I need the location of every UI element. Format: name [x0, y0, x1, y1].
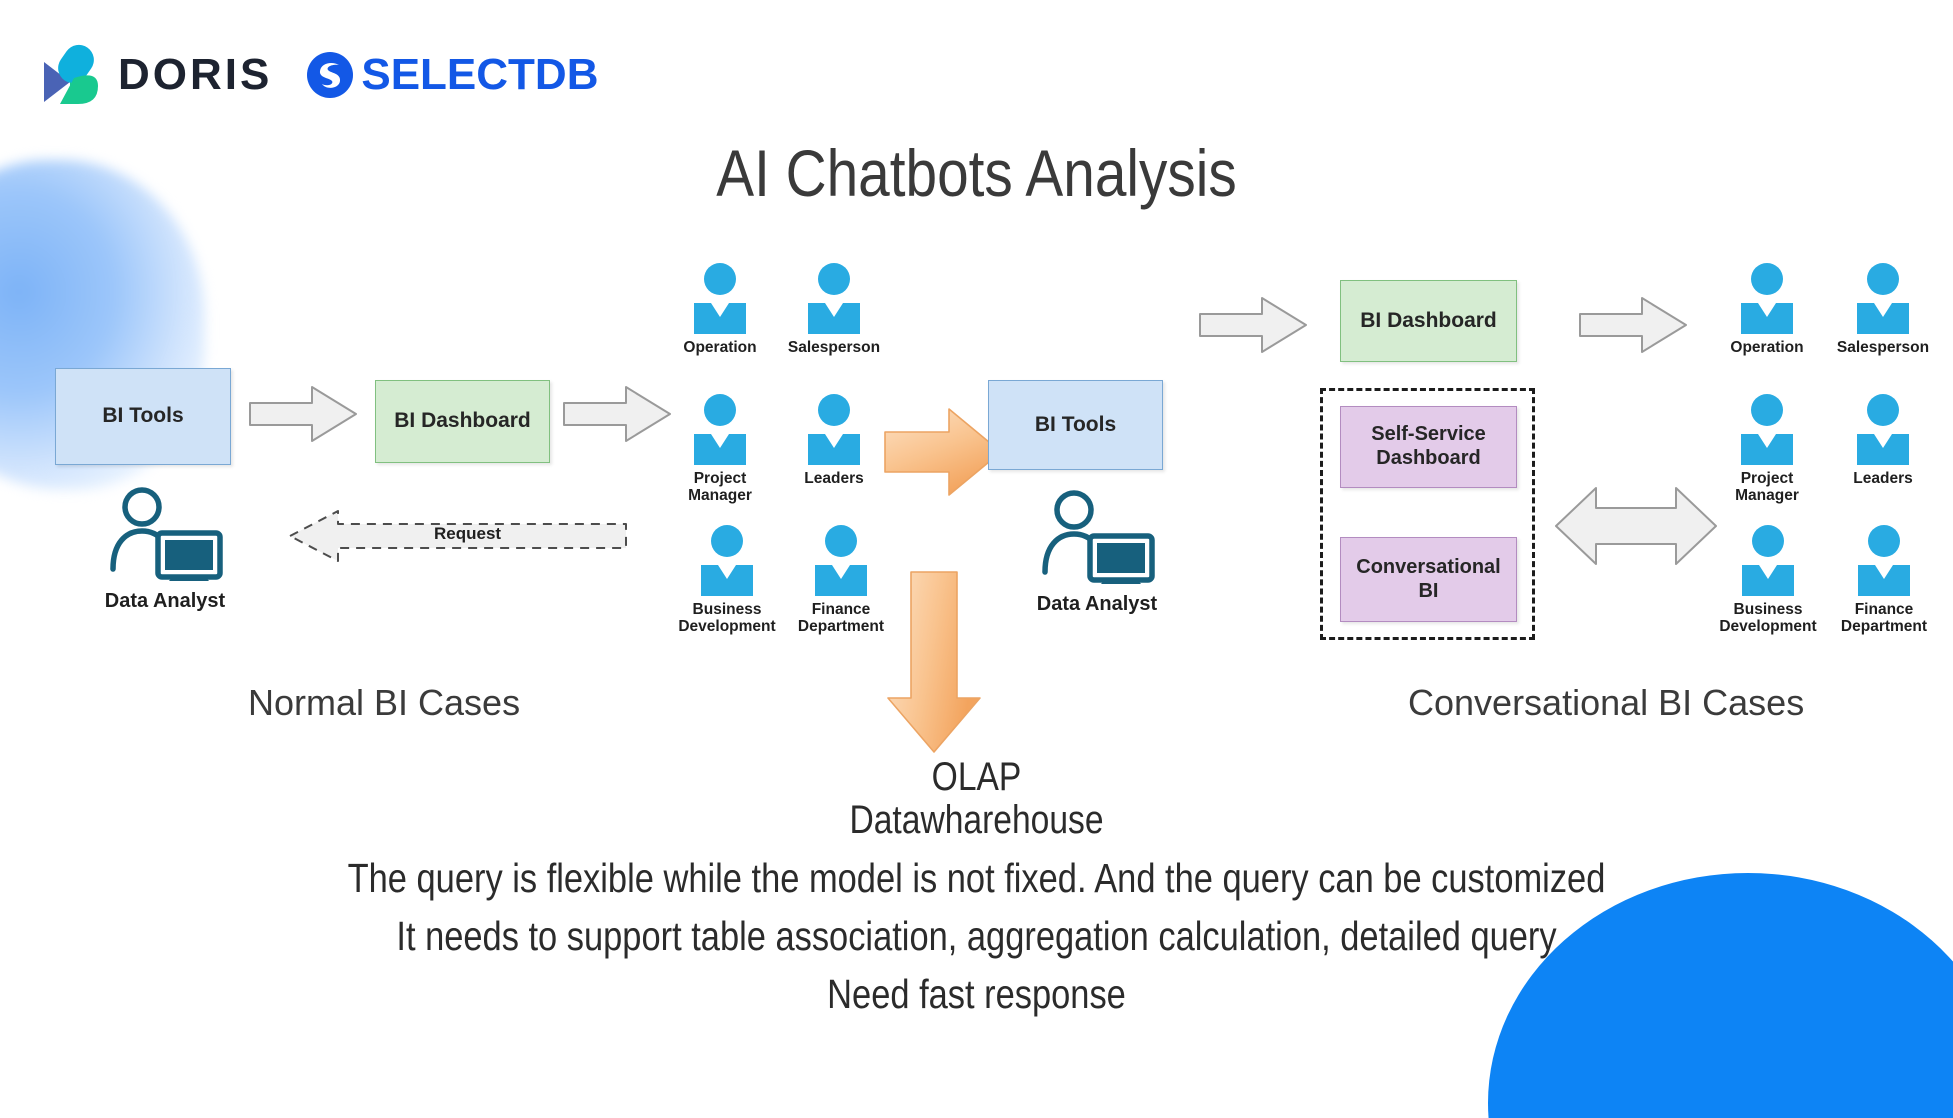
- data-analyst-middle-label: Data Analyst: [1012, 593, 1182, 616]
- olap-line-3: The query is flexible while the model is…: [156, 855, 1797, 902]
- conversational-bi-cases-caption: Conversational BI Cases: [1408, 682, 1804, 724]
- bi-dashboard-box-left[interactable]: BI Dashboard: [375, 380, 550, 463]
- person-business-development-right: Business Development: [1712, 524, 1824, 636]
- person-icon: [1736, 262, 1798, 334]
- person-icon: [1853, 524, 1915, 596]
- person-label: Operation: [672, 339, 768, 356]
- person-label: Salesperson: [1833, 339, 1933, 356]
- person-leaders-right: Leaders: [1833, 393, 1933, 487]
- person-operation-right: Operation: [1717, 262, 1817, 356]
- arrow-double-horizontal-icon: [1552, 480, 1720, 572]
- olap-line-2: Datawharehouse: [156, 798, 1797, 843]
- olap-line-1: OLAP: [156, 755, 1797, 800]
- arrow-right-icon-2: [562, 383, 672, 445]
- person-icon: [1736, 393, 1798, 465]
- person-label: Salesperson: [786, 339, 882, 356]
- page-title: AI Chatbots Analysis: [137, 135, 1817, 211]
- doris-logo: DORIS: [36, 42, 272, 108]
- person-icon: [803, 262, 865, 334]
- person-label: Business Development: [672, 601, 782, 636]
- person-finance-department-right: Finance Department: [1828, 524, 1940, 636]
- person-icon: [689, 393, 751, 465]
- bi-dashboard-box-right[interactable]: BI Dashboard: [1340, 280, 1517, 362]
- person-icon: [689, 262, 751, 334]
- selectdb-wordmark: SELECTDB: [361, 53, 598, 97]
- person-label: Project Manager: [672, 470, 768, 505]
- person-project-manager-left: Project Manager: [672, 393, 768, 505]
- person-icon: [810, 524, 872, 596]
- self-service-dashboard-box[interactable]: Self-Service Dashboard: [1340, 406, 1517, 488]
- arrow-down-orange-icon: [885, 570, 983, 755]
- person-business-development-left: Business Development: [672, 524, 782, 636]
- doris-wordmark: DORIS: [118, 53, 272, 97]
- person-icon: [1852, 262, 1914, 334]
- person-label: Finance Department: [786, 601, 896, 636]
- person-finance-department-left: Finance Department: [786, 524, 896, 636]
- olap-line-5: Need fast response: [156, 971, 1797, 1018]
- data-analyst-left-label: Data Analyst: [80, 590, 250, 613]
- conversational-bi-box[interactable]: Conversational BI: [1340, 537, 1517, 622]
- person-label: Leaders: [1833, 470, 1933, 487]
- doris-logo-icon: [36, 42, 104, 108]
- person-label: Leaders: [786, 470, 882, 487]
- arrow-right-icon-1: [248, 383, 358, 445]
- bi-tools-box-middle[interactable]: BI Tools: [988, 380, 1163, 470]
- person-icon: [803, 393, 865, 465]
- normal-bi-cases-caption: Normal BI Cases: [248, 682, 520, 724]
- data-analyst-left: Data Analyst: [80, 485, 250, 613]
- person-icon: [1737, 524, 1799, 596]
- arrow-right-orange-icon: [883, 406, 1003, 498]
- person-project-manager-right: Project Manager: [1717, 393, 1817, 505]
- person-operation-left: Operation: [672, 262, 768, 356]
- data-analyst-icon: [100, 485, 230, 581]
- olap-line-4: It needs to support table association, a…: [156, 913, 1797, 960]
- request-arrow-label: Request: [434, 524, 501, 544]
- data-analyst-middle: Data Analyst: [1012, 488, 1182, 616]
- person-salesperson-right: Salesperson: [1833, 262, 1933, 356]
- person-label: Operation: [1717, 339, 1817, 356]
- person-label: Project Manager: [1717, 470, 1817, 505]
- logo-row: DORIS SELECTDB: [36, 42, 598, 108]
- selectdb-logo: SELECTDB: [306, 51, 598, 99]
- selectdb-logo-icon: [306, 51, 354, 99]
- person-label: Business Development: [1712, 601, 1824, 636]
- person-icon: [696, 524, 758, 596]
- person-label: Finance Department: [1828, 601, 1940, 636]
- bi-tools-box-left[interactable]: BI Tools: [55, 368, 231, 465]
- person-icon: [1852, 393, 1914, 465]
- data-analyst-icon: [1032, 488, 1162, 584]
- slide-canvas: DORIS SELECTDB AI Chatbots Analysis BI T…: [0, 0, 1953, 1118]
- person-leaders-left: Leaders: [786, 393, 882, 487]
- person-salesperson-left: Salesperson: [786, 262, 882, 356]
- arrow-right-icon-3: [1198, 294, 1308, 356]
- arrow-right-icon-4: [1578, 294, 1688, 356]
